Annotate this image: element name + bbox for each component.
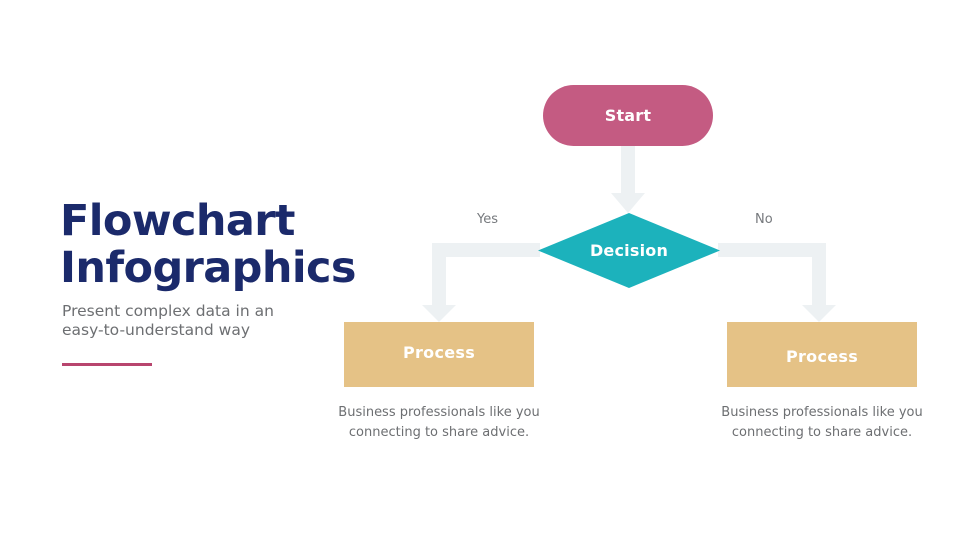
slide-canvas: Flowchart Infographics Present complex d… xyxy=(0,0,980,551)
node-process-right-label: Process xyxy=(786,347,858,366)
connector-decision-to-process-left xyxy=(422,243,540,322)
connector-start-to-decision xyxy=(611,146,645,213)
node-process-left-label: Process xyxy=(403,343,475,362)
caption-process-right: Business professionals like you connecti… xyxy=(719,403,925,442)
node-process-left[interactable]: Process xyxy=(344,322,534,387)
caption-process-left: Business professionals like you connecti… xyxy=(336,403,542,442)
node-decision[interactable]: Decision xyxy=(538,213,720,288)
node-decision-label: Decision xyxy=(538,213,720,288)
node-start[interactable]: Start xyxy=(543,85,713,146)
node-process-right[interactable]: Process xyxy=(727,322,917,387)
branch-label-no: No xyxy=(755,212,773,227)
flowchart: Start Decision Yes No Process Process Bu… xyxy=(0,0,980,551)
branch-label-yes: Yes xyxy=(477,212,498,227)
node-start-label: Start xyxy=(605,106,652,125)
connector-arrows xyxy=(0,0,980,551)
connector-decision-to-process-right xyxy=(718,243,836,322)
